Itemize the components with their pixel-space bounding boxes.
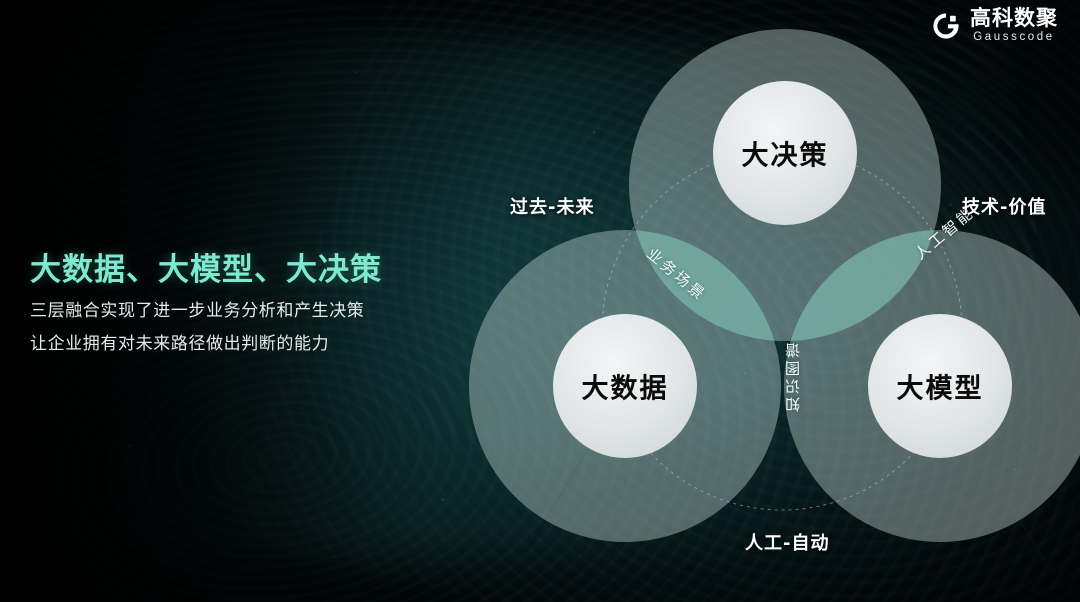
subline-1: 三层融合实现了进一步业务分析和产生决策 <box>30 303 460 320</box>
axis-label-tech-value: 技术-价值 <box>962 193 1046 219</box>
venn-label-bigdata: 大数据 <box>582 367 669 406</box>
venn-svg <box>460 0 1080 602</box>
venn-diagram: 大决策 大数据 大模型 业务场景 人工智能 知识图谱 过去-未来 技术-价值 人… <box>460 0 1080 602</box>
venn-label-decision: 大决策 <box>742 134 829 173</box>
venn-label-bigmodel: 大模型 <box>897 367 984 406</box>
slide-canvas: 高科数聚 Gausscode 大数据、大模型、大决策 三层融合实现了进一步业务分… <box>0 0 1080 602</box>
subline-2: 让企业拥有对未来路径做出判断的能力 <box>30 336 460 353</box>
venn-label-knowledge-graph: 知识图谱 <box>782 340 803 412</box>
copy-block: 大数据、大模型、大决策 三层融合实现了进一步业务分析和产生决策 让企业拥有对未来… <box>30 252 460 353</box>
axis-label-past-future: 过去-未来 <box>510 193 594 219</box>
headline: 大数据、大模型、大决策 <box>30 252 460 289</box>
axis-label-manual-auto: 人工-自动 <box>745 529 829 555</box>
